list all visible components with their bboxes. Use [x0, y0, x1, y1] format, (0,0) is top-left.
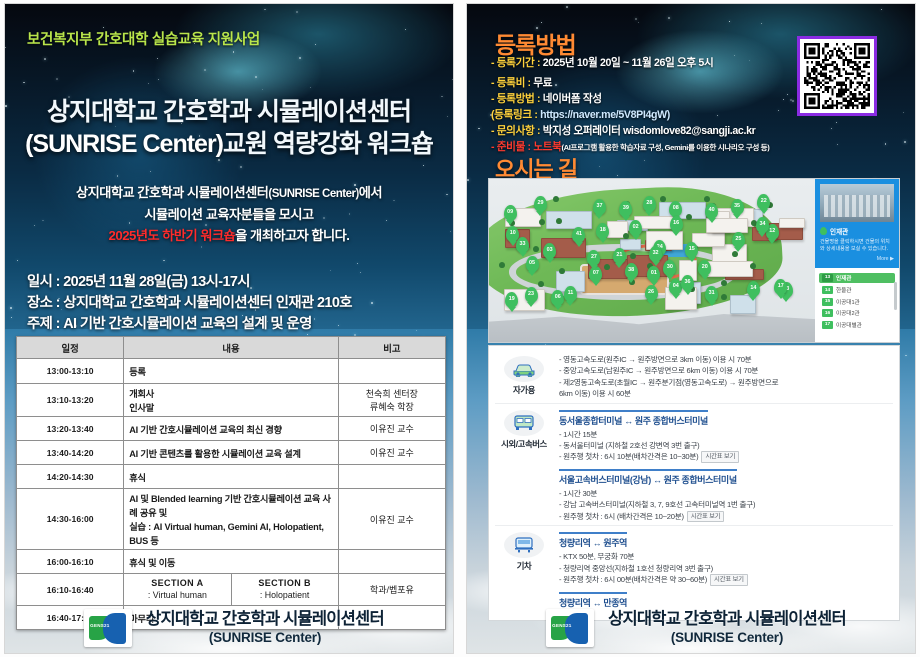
map-pin[interactable]: 15 — [685, 242, 698, 258]
table-row: 13:00-13:10등록 — [17, 359, 446, 384]
poster-title-en: (SUNRISE Center) — [25, 130, 223, 158]
table-row: 16:10-16:40SECTION A: Virtual humanSECTI… — [17, 574, 446, 606]
cell-section-a: SECTION A: Virtual human — [124, 574, 231, 606]
legend-item[interactable]: 13인재관 — [819, 273, 895, 283]
direction-body: - 영동고속도로(원주IC → 원주방면으로 3km 이동) 이용 시 70분-… — [559, 354, 893, 400]
direction-line: - 동서울터미널 (지하철 2호선 강변역 3번 출구) — [559, 440, 893, 451]
lead-line-3: 2025년도 하반기 워크숍을 개최하고자 합니다. — [5, 225, 453, 246]
event-meta: 일시 : 2025년 11월 28일(금) 13시-17시 장소 : 상지대학교… — [27, 272, 352, 335]
route-title: 동서울종합터미널 ↔ 원주 종합버스터미널 — [559, 410, 708, 427]
table-row: 14:20-14:30휴식 — [17, 465, 446, 489]
direction-body: 청량리역 ↔ 원주역- KTX 50분, 무궁화 70분- 청량리역 중앙선(지… — [559, 530, 893, 621]
cell-time: 14:20-14:30 — [17, 465, 124, 489]
cell-time: 16:10-16:40 — [17, 574, 124, 606]
map-pin[interactable]: 02 — [629, 220, 642, 236]
map-pin[interactable]: 41 — [572, 227, 585, 243]
logo-blue-swoosh-right — [565, 613, 588, 644]
map-pin[interactable]: 03 — [543, 243, 556, 259]
direction-label: 기차 — [517, 560, 532, 572]
direction-line: - 청량리역 중앙선(지하철 1호선 청량리역 3번 출구) — [559, 563, 893, 574]
cell-note: 이유진 교수 — [338, 417, 445, 441]
registration-item: (등록링크 : https://naver.me/5V8PI4gW) — [491, 108, 791, 123]
timetable-button[interactable]: 시간표 보기 — [701, 451, 739, 463]
map-pin[interactable]: 11 — [564, 286, 577, 302]
map-pin[interactable]: 19 — [505, 292, 518, 308]
table-row: 13:10-13:20개회사인사말천숙희 센터장류혜숙 학장 — [17, 384, 446, 417]
map-pin[interactable]: 32 — [649, 246, 662, 262]
cell-content: AI 기반 콘텐츠를 활용한 시뮬레이션 교육 설계 — [124, 441, 339, 465]
map-pin[interactable]: 28 — [643, 196, 656, 212]
registration-heading: 등록방법 — [495, 26, 576, 60]
direction-line: - 원주행 첫차 : 6시 (배차간격은 10~20분)시간표 보기 — [559, 511, 893, 523]
map-pin[interactable]: 17 — [774, 279, 787, 295]
map-pin[interactable]: 29 — [534, 196, 547, 212]
car-icon — [511, 361, 537, 377]
route-title: 서울고속버스터미널(강남) ↔ 원주 종합버스터미널 — [559, 469, 737, 486]
lead-line-2: 시뮬레이션 교육자분들을 모시고 — [5, 204, 453, 225]
more-link[interactable]: More ▶ — [820, 256, 894, 262]
map-pin[interactable]: 30 — [663, 260, 676, 276]
registration-item: - 등록기간 : 2025년 10월 20일 ~ 11월 26일 오후 5시 — [491, 56, 791, 71]
cell-time: 13:40-14:20 — [17, 441, 124, 465]
legend-number: 17 — [822, 321, 833, 329]
registration-item: - 등록비 : 무료 — [491, 76, 791, 91]
map-pin[interactable]: 14 — [747, 281, 760, 297]
footer-org-en-right: (SUNRISE Center) — [608, 630, 846, 646]
car-icon-wrap — [504, 356, 544, 382]
legend-item[interactable]: 14한울관 — [819, 286, 895, 294]
legend-name: 한울관 — [836, 286, 851, 294]
direction-line: - 영동고속도로(원주IC → 원주방면으로 3km 이동) 이용 시 70분 — [559, 354, 893, 365]
building-name: 인재관 — [830, 226, 848, 236]
direction-line: - 제2영동고속도로(초월IC → 원주분기점(영동고속도로) → 원주방면으로 — [559, 377, 893, 388]
map-pin[interactable]: 23 — [525, 287, 538, 303]
footer-org-en: (SUNRISE Center) — [146, 630, 384, 646]
sangji-logo-right: GENS21 — [546, 609, 594, 647]
route-title: 청량리역 ↔ 만종역 — [559, 592, 627, 609]
lead-center-name: 상지대학교 간호학과 시뮬레이션센터 — [76, 185, 268, 200]
poster-title-line2: (SUNRISE Center)교원 역량강화 워크숍 — [5, 124, 453, 160]
cell-time: 13:10-13:20 — [17, 384, 124, 417]
map-pin[interactable]: 40 — [705, 203, 718, 219]
legend-scrollbar[interactable] — [894, 282, 897, 310]
cell-time: 14:30-16:00 — [17, 489, 124, 550]
cell-time: 16:00-16:10 — [17, 550, 124, 574]
right-footer-text: 상지대학교 간호학과 시뮬레이션센터 (SUNRISE Center) — [608, 610, 846, 646]
cell-content: AI 및 Blended learning 기반 간호시뮬레이션 교육 사례 공… — [124, 489, 339, 550]
cell-note: 이유진 교수 — [338, 441, 445, 465]
direction-line: - 1시간 30분 — [559, 488, 893, 499]
direction-line: - KTX 50분, 무궁화 70분 — [559, 551, 893, 562]
direction-line: - 1시간 15분 — [559, 429, 893, 440]
bus-icon — [512, 414, 536, 432]
slide-right: 등록방법 - 등록기간 : 2025년 10월 20일 ~ 11월 26일 오후… — [466, 3, 916, 654]
logo-blue-swoosh — [103, 613, 126, 644]
cell-note — [338, 465, 445, 489]
map-building-card: 인재관 건물명을 클릭하시면 건물의 위치와 상세내용을 보실 수 있습니다. … — [815, 179, 899, 268]
direction-body: 동서울종합터미널 ↔ 원주 종합버스터미널- 1시간 15분- 동서울터미널 (… — [559, 408, 893, 523]
col-header-time: 일정 — [17, 337, 124, 359]
map-tree — [623, 233, 629, 239]
legend-name: 이공대별관 — [836, 321, 862, 329]
legend-number: 15 — [822, 298, 833, 306]
legend-number: 13 — [822, 274, 833, 282]
map-tree — [721, 280, 727, 286]
legend-name: 인재관 — [836, 274, 851, 282]
cell-note: 천숙희 센터장류혜숙 학장 — [338, 384, 445, 417]
poster-title-line1: 상지대학교 간호학과 시뮬레이션센터 — [5, 92, 453, 128]
cell-note: 이유진 교수 — [338, 489, 445, 550]
route-title: 청량리역 ↔ 원주역 — [559, 532, 627, 549]
map-pin[interactable]: 34 — [756, 217, 769, 233]
map-pin[interactable]: 37 — [593, 199, 606, 215]
map-tree — [704, 196, 710, 202]
lead-line-1: 상지대학교 간호학과 시뮬레이션센터(SUNRISE Center)에서 — [5, 182, 453, 204]
cell-note — [338, 550, 445, 574]
direction-line: - 원주행 첫차 : 6시 00분(배차간격은 약 30~60분)시간표 보기 — [559, 574, 893, 586]
legend-item[interactable]: 15이공대1관 — [819, 298, 895, 306]
meta-topic: 주제 : AI 기반 간호시뮬레이션 교육의 설계 및 운영 — [27, 314, 352, 335]
registration-qr-code[interactable] — [797, 36, 877, 116]
qr-code-icon — [804, 43, 870, 109]
campus-map[interactable]: 0102030405060708091011121314151617181920… — [488, 178, 900, 343]
sangji-logo: GENS21 — [84, 609, 132, 647]
table-row: 13:40-14:20AI 기반 콘텐츠를 활용한 시뮬레이션 교육 설계이유진… — [17, 441, 446, 465]
program-kicker: 보건복지부 간호대학 실습교육 지원사업 — [27, 28, 260, 49]
poster-title-ko: 교원 역량강화 워크숍 — [223, 130, 433, 158]
direction-icon-block: 자가용 — [495, 354, 553, 400]
map-pin[interactable]: 27 — [587, 250, 600, 266]
legend-number: 14 — [822, 286, 833, 294]
col-header-note: 비고 — [338, 337, 445, 359]
logo-gens-text-right: GENS21 — [552, 623, 571, 628]
location-pin-icon — [820, 227, 827, 235]
map-pin[interactable]: 16 — [670, 216, 683, 232]
legend-number: 16 — [822, 309, 833, 317]
direction-icon-block: 시외/고속버스 — [495, 408, 553, 523]
map-pin[interactable]: 18 — [596, 223, 609, 239]
direction-route: 청량리역 ↔ 원주역- KTX 50분, 무궁화 70분- 청량리역 중앙선(지… — [559, 530, 893, 585]
table-row: 16:00-16:10휴식 및 이동 — [17, 550, 446, 574]
registration-list: - 등록기간 : 2025년 10월 20일 ~ 11월 26일 오후 5시- … — [491, 56, 791, 156]
direction-route: 서울고속버스터미널(강남) ↔ 원주 종합버스터미널- 1시간 30분- 강남 … — [559, 467, 893, 522]
legend-name: 이공대1관 — [836, 298, 860, 306]
timetable-button[interactable]: 시간표 보기 — [710, 574, 748, 586]
map-pin[interactable]: 06 — [551, 290, 564, 306]
train-icon — [512, 536, 536, 554]
cell-note: 학과/벱포유 — [338, 574, 445, 606]
direction-section: 자가용- 영동고속도로(원주IC → 원주방면으로 3km 이동) 이용 시 7… — [495, 350, 893, 403]
col-header-content: 내용 — [124, 337, 339, 359]
map-pin[interactable]: 36 — [681, 275, 694, 291]
map-tree — [604, 264, 610, 270]
map-building — [779, 218, 805, 228]
direction-label: 시외/고속버스 — [501, 438, 547, 450]
map-pin[interactable]: 01 — [647, 266, 660, 282]
lead-center-en: (SUNRISE Center) — [268, 188, 358, 200]
directions-panel: 자가용- 영동고속도로(원주IC → 원주방면으로 3km 이동) 이용 시 7… — [488, 345, 900, 621]
map-pin[interactable]: 09 — [504, 205, 517, 221]
map-building — [706, 261, 753, 277]
meta-date: 일시 : 2025년 11월 28일(금) 13시-17시 — [27, 272, 352, 293]
table-row: 14:30-16:00AI 및 Blended learning 기반 간호시뮬… — [17, 489, 446, 550]
map-pin[interactable]: 35 — [731, 199, 744, 215]
lead-line1-tail: 에서 — [359, 185, 382, 200]
map-pin[interactable]: 38 — [625, 263, 638, 279]
direction-section: 기차청량리역 ↔ 원주역- KTX 50분, 무궁화 70분- 청량리역 중앙선… — [495, 525, 893, 621]
direction-line: 6km 이동) 이용 시 60분 — [559, 388, 893, 399]
campus-map-canvas[interactable]: 0102030405060708091011121314151617181920… — [489, 179, 815, 342]
schedule-table: 일정 내용 비고 13:00-13:10등록13:10-13:20개회사인사말천… — [16, 336, 446, 630]
direction-icon-block: 기차 — [495, 530, 553, 621]
map-tree — [553, 196, 559, 202]
poster-stage: 보건복지부 간호대학 실습교육 지원사업 상지대학교 간호학과 시뮬레이션센터 … — [0, 0, 920, 657]
lead-line3-tail: 을 개최하고자 합니다. — [235, 228, 349, 243]
cell-section-b: SECTION B: Holopatient — [231, 574, 338, 606]
train-icon-wrap — [504, 532, 544, 558]
map-side-panel[interactable]: 인재관 건물명을 클릭하시면 건물의 위치와 상세내용을 보실 수 있습니다. … — [815, 179, 899, 342]
map-pin[interactable]: 22 — [757, 194, 770, 210]
direction-label: 자가용 — [513, 384, 535, 396]
footer-org-name-right: 상지대학교 간호학과 시뮬레이션센터 — [608, 610, 846, 630]
direction-line: - 중앙고속도로(남원주IC → 원주방면으로 6km 이동) 이용 시 70분 — [559, 365, 893, 376]
direction-route: 동서울종합터미널 ↔ 원주 종합버스터미널- 1시간 15분- 동서울터미널 (… — [559, 408, 893, 463]
map-pin[interactable]: 33 — [516, 237, 529, 253]
registration-item: - 문의사항 : 박지성 오퍼레이터 wisdomlove82@sangji.a… — [491, 124, 791, 139]
logo-gens-text: GENS21 — [90, 623, 109, 628]
timetable-button[interactable]: 시간표 보기 — [687, 511, 725, 523]
legend-item[interactable]: 16이공대2관 — [819, 309, 895, 317]
building-photo — [820, 184, 894, 222]
building-name-row: 인재관 — [820, 226, 894, 236]
cell-note — [338, 359, 445, 384]
direction-line: - 원주행 첫차 : 6시 10분(배차간격은 10~30분)시간표 보기 — [559, 451, 893, 463]
map-tree — [630, 253, 636, 259]
cell-time: 13:20-13:40 — [17, 417, 124, 441]
map-pin[interactable]: 05 — [526, 256, 539, 272]
lead-highlight: 2025년도 하반기 워크숍 — [109, 228, 236, 243]
right-footer: GENS21 상지대학교 간호학과 시뮬레이션센터 (SUNRISE Cente… — [467, 609, 915, 647]
direction-line: - 강남 고속버스터미널(지하철 3, 7, 9호선 고속터미널역 1번 출구) — [559, 499, 893, 510]
map-tree — [750, 263, 756, 269]
map-pin[interactable]: 20 — [698, 260, 711, 276]
cell-content: 휴식 — [124, 465, 339, 489]
cell-content: 휴식 및 이동 — [124, 550, 339, 574]
cell-content: AI 기반 간호시뮬레이션 교육의 최신 경향 — [124, 417, 339, 441]
map-pin[interactable]: 25 — [732, 232, 745, 248]
map-pin[interactable]: 26 — [645, 285, 658, 301]
building-description: 건물명을 클릭하시면 건물의 위치와 상세내용을 보실 수 있습니다. — [820, 239, 894, 253]
footer-org-name: 상지대학교 간호학과 시뮬레이션센터 — [146, 610, 384, 630]
map-pin[interactable]: 31 — [705, 286, 718, 302]
table-row: 13:20-13:40AI 기반 간호시뮬레이션 교육의 최신 경향이유진 교수 — [17, 417, 446, 441]
legend-item[interactable]: 17이공대별관 — [819, 321, 895, 329]
left-footer-text: 상지대학교 간호학과 시뮬레이션센터 (SUNRISE Center) — [146, 610, 384, 646]
bus-icon-wrap — [504, 410, 544, 436]
registration-item: - 등록방법 : 네이버폼 작성 — [491, 92, 791, 107]
map-legend-list[interactable]: 13인재관14한울관15이공대1관16이공대2관17이공대별관 — [815, 268, 899, 342]
map-pin[interactable]: 39 — [619, 201, 632, 217]
map-pin[interactable]: 21 — [613, 248, 626, 264]
lead-paragraph: 상지대학교 간호학과 시뮬레이션센터(SUNRISE Center)에서 시뮬레… — [5, 182, 453, 246]
map-tree — [538, 281, 544, 287]
cell-content: 등록 — [124, 359, 339, 384]
schedule-body: 13:00-13:10등록13:10-13:20개회사인사말천숙희 센터장류혜숙… — [17, 359, 446, 630]
left-footer: GENS21 상지대학교 간호학과 시뮬레이션센터 (SUNRISE Cente… — [5, 609, 453, 647]
slide-left: 보건복지부 간호대학 실습교육 지원사업 상지대학교 간호학과 시뮬레이션센터 … — [4, 3, 454, 654]
map-tree — [660, 196, 666, 202]
cell-content: 개회사인사말 — [124, 384, 339, 417]
meta-place: 장소 : 상지대학교 간호학과 시뮬레이션센터 인재관 210호 — [27, 293, 352, 314]
direction-section: 시외/고속버스동서울종합터미널 ↔ 원주 종합버스터미널- 1시간 15분- 동… — [495, 403, 893, 526]
legend-name: 이공대2관 — [836, 309, 860, 317]
map-tree — [686, 214, 692, 220]
schedule-header-row: 일정 내용 비고 — [17, 337, 446, 359]
cell-time: 13:00-13:10 — [17, 359, 124, 384]
